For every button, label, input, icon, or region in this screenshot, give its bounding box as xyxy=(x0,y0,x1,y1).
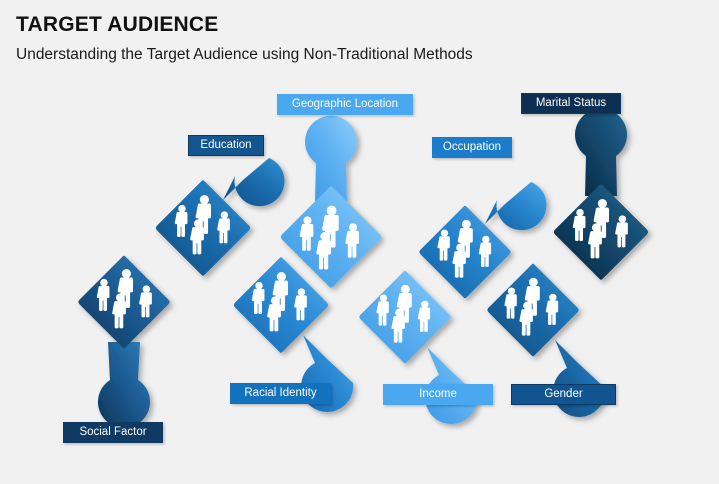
label-marital-status[interactable]: Marital Status xyxy=(521,93,621,114)
label-racial-identity[interactable]: Racial Identity xyxy=(230,383,331,404)
label-geographic-location-text: Geographic Location xyxy=(292,99,398,111)
puzzle-piece-geographic-location[interactable] xyxy=(281,116,381,288)
puzzle-piece-education[interactable] xyxy=(156,158,285,276)
slide-header: TARGET AUDIENCE Understanding the Target… xyxy=(16,12,706,66)
label-income[interactable]: Income xyxy=(383,384,493,405)
label-marital-status-text: Marital Status xyxy=(536,98,606,110)
page-title: TARGET AUDIENCE xyxy=(16,12,706,38)
label-education-text: Education xyxy=(200,140,251,152)
label-geographic-location[interactable]: Geographic Location xyxy=(277,94,413,115)
label-education[interactable]: Education xyxy=(188,135,264,156)
label-social-factor[interactable]: Social Factor xyxy=(63,422,163,443)
label-occupation[interactable]: Occupation xyxy=(432,137,512,158)
label-gender[interactable]: Gender xyxy=(511,384,616,405)
slide-canvas: TARGET AUDIENCE Understanding the Target… xyxy=(0,0,719,484)
label-income-text: Income xyxy=(419,389,457,401)
puzzle-piece-marital-status[interactable] xyxy=(554,109,648,280)
label-racial-identity-text: Racial Identity xyxy=(244,388,316,400)
label-occupation-text: Occupation xyxy=(443,142,501,154)
puzzle-piece-social-factor[interactable] xyxy=(78,256,169,428)
label-gender-text: Gender xyxy=(544,389,582,401)
page-subtitle: Understanding the Target Audience using … xyxy=(16,44,706,66)
label-social-factor-text: Social Factor xyxy=(79,427,146,439)
puzzle-diagram: Social Factor Education Racial Identity … xyxy=(0,80,719,460)
